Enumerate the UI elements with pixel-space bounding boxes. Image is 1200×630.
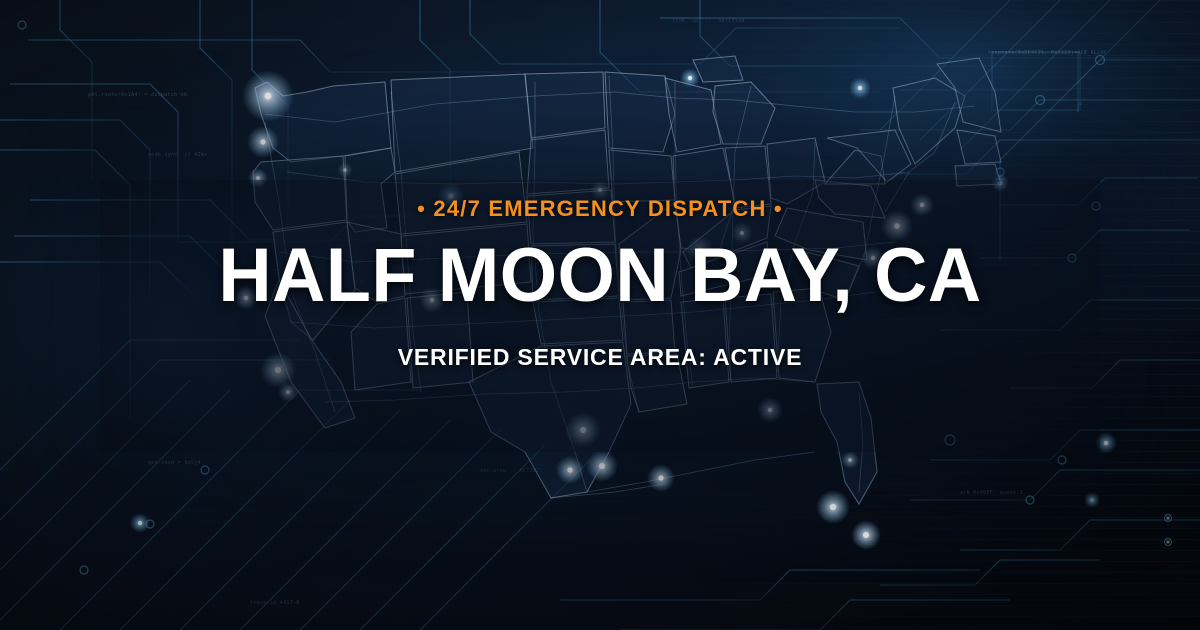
status-badge: VERIFIED SERVICE AREA: ACTIVE <box>0 344 1200 371</box>
service-area-hero-banner: pkt.route(0x1A4) = dispatch_ok node.sync… <box>0 0 1200 630</box>
eyebrow-label: • 24/7 EMERGENCY DISPATCH • <box>0 196 1200 222</box>
hero-copy-block: • 24/7 EMERGENCY DISPATCH • HALF MOON BA… <box>0 196 1200 371</box>
page-title: HALF MOON BAY, CA <box>18 236 1182 316</box>
